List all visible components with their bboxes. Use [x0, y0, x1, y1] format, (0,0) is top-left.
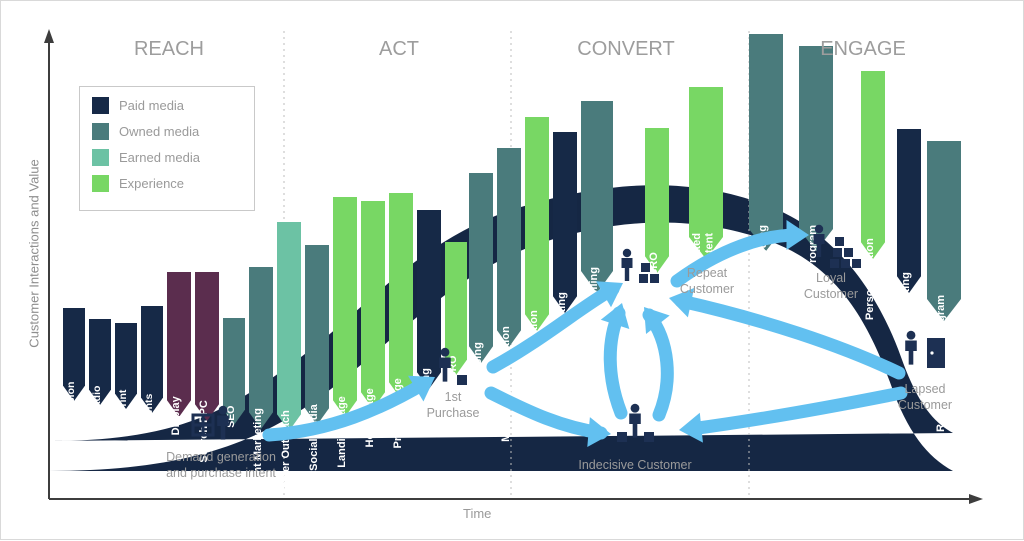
touchpoint-bar[interactable]: Events	[141, 306, 163, 428]
touchpoint-bar[interactable]: Customer Onboarding	[749, 34, 783, 342]
bar-label: Marketing Automation	[500, 326, 512, 442]
section-titles: REACHACTCONVERTENGAGE	[134, 38, 906, 60]
touchpoint-bar[interactable]: Television	[63, 308, 85, 432]
bar-label: Personalisation	[864, 238, 876, 320]
section-title-engage: ENGAGE	[820, 38, 906, 60]
bar-label: Print	[117, 389, 129, 413]
legend-swatch	[92, 175, 109, 192]
section-title-reach: REACH	[134, 38, 204, 60]
touchpoint-bar[interactable]: Remarketing	[417, 210, 441, 435]
legend-item: Experience	[92, 175, 254, 192]
legend-item: Earned media	[92, 149, 254, 166]
legend-swatch	[92, 149, 109, 166]
legend-label: Owned media	[119, 124, 199, 139]
legend-label: Experience	[119, 176, 184, 191]
persona-label: Repeat	[687, 266, 728, 280]
section-title-act: ACT	[379, 38, 419, 60]
bar-label: Display	[170, 395, 182, 435]
bar-label: Radio	[91, 386, 103, 415]
persona-label: Customer	[898, 398, 952, 412]
legend-item: Owned media	[92, 123, 254, 140]
persona-label: Demand generation	[166, 450, 276, 464]
legend-swatch	[92, 97, 109, 114]
y-axis-label: Customer Interactions and Value	[27, 139, 42, 369]
customer-lifecycle-diagram: TelevisionRadioPrintEventsDisplaySearch …	[0, 0, 1024, 540]
section-title-convert: CONVERT	[577, 38, 674, 60]
touchpoint-bar[interactable]: Remarketing	[897, 129, 921, 339]
touchpoint-bar[interactable]: Product page	[389, 193, 413, 448]
persona-label: Customer	[680, 282, 734, 296]
persona-label: 1st	[445, 390, 462, 404]
touchpoint-bar[interactable]: Radio	[89, 319, 111, 415]
bar-label: Events	[143, 393, 155, 428]
x-axis-label: Time	[463, 506, 491, 521]
bar-label: Landing page	[336, 396, 348, 468]
legend: Paid mediaOwned mediaEarned mediaExperie…	[79, 86, 255, 211]
legend-item: Paid media	[92, 97, 254, 114]
legend-label: Paid media	[119, 98, 184, 113]
bar-label: Television	[65, 382, 77, 433]
persona-label: Purchase	[427, 406, 480, 420]
touchpoint-bar[interactable]: Display	[167, 272, 191, 435]
legend-label: Earned media	[119, 150, 200, 165]
touchpoint-bar[interactable]: Personalisation	[861, 71, 885, 320]
touchpoint-bar[interactable]: Social Media	[305, 245, 329, 471]
touchpoint-bar[interactable]: Print	[115, 323, 137, 414]
diagram-canvas: TelevisionRadioPrintEventsDisplaySearch …	[1, 1, 1024, 541]
persona-label: Indecisive Customer	[578, 458, 691, 472]
persona-label: Customer	[804, 287, 858, 301]
touchpoint-bar[interactable]: CRO	[645, 128, 669, 277]
touchpoint-bar[interactable]: Merchandising	[469, 173, 493, 420]
legend-swatch	[92, 123, 109, 140]
bar-label: Remarketing	[900, 272, 912, 339]
persona-label: and purchase intent	[166, 466, 276, 480]
persona-label: Loyal	[816, 271, 846, 285]
bar-label: Social Media	[308, 403, 320, 471]
persona-label: Lapsed	[904, 382, 945, 396]
